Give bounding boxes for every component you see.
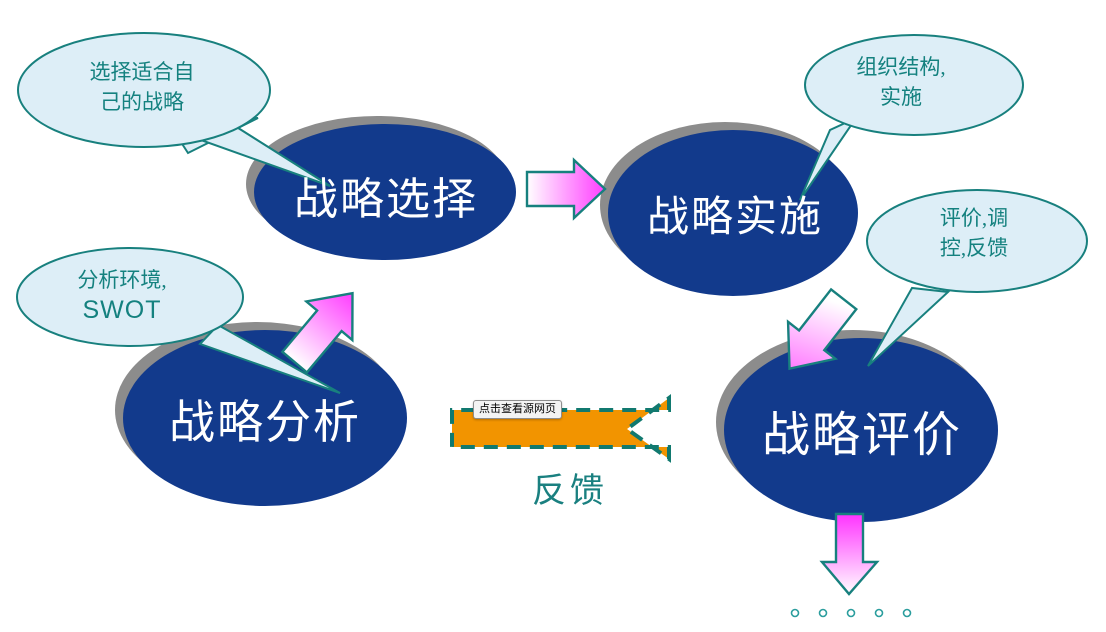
dot-1 — [792, 610, 799, 617]
node-evaluation — [724, 338, 998, 522]
source-page-tooltip[interactable]: 点击查看源网页 — [473, 400, 562, 419]
dot-4 — [876, 610, 883, 617]
callout-selection[interactable] — [18, 33, 330, 186]
node-selection — [254, 124, 516, 260]
bottom-dots — [792, 610, 911, 617]
diagram-canvas: 战略选择 战略实施 战略分析 战略评价 选择适合自 己的战略 分析环境, SWO… — [0, 0, 1106, 632]
arrow-selection-to-implementation[interactable] — [527, 160, 605, 218]
dot-3 — [848, 610, 855, 617]
arrow-evaluation-down[interactable] — [822, 514, 877, 594]
diagram-graphics — [0, 0, 1106, 632]
dot-5 — [904, 610, 911, 617]
dot-2 — [820, 610, 827, 617]
